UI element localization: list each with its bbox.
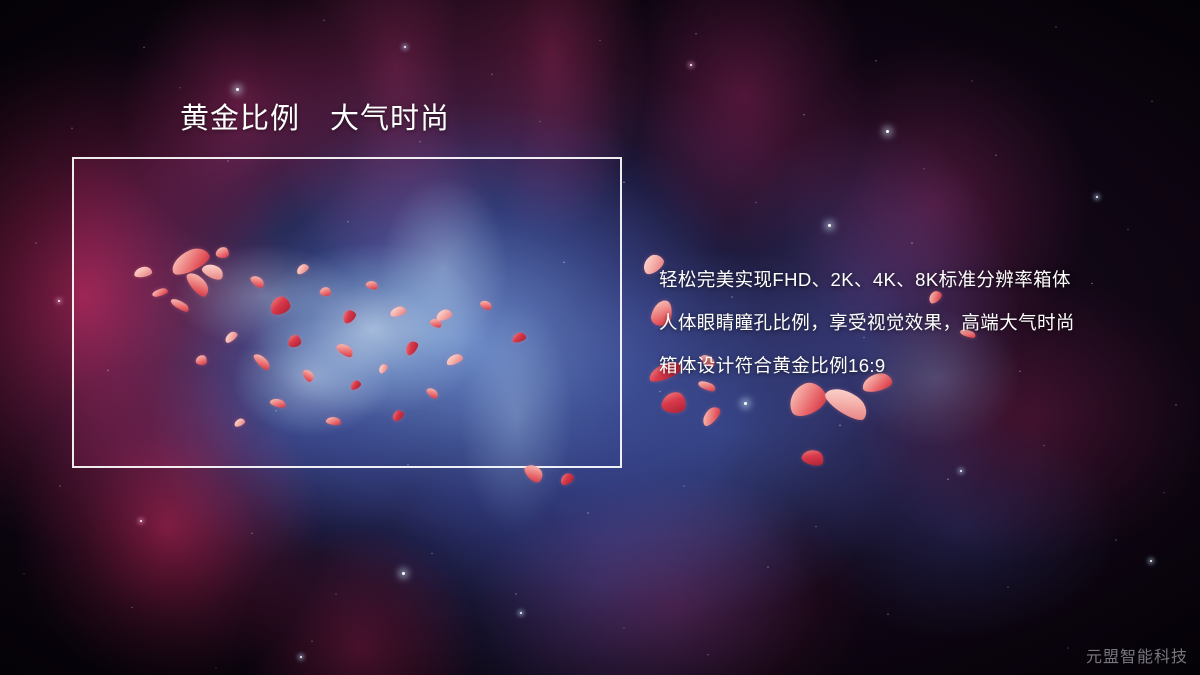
petal <box>365 279 379 291</box>
bright-star <box>236 88 239 91</box>
petal <box>319 286 332 298</box>
petal <box>151 287 168 297</box>
petal <box>325 416 341 426</box>
petal <box>403 339 420 357</box>
bright-star <box>402 572 405 575</box>
body-text-block: 轻松完美实现FHD、2K、4K、8K标准分辨率箱体 人体眼睛瞳孔比例，享受视觉效… <box>659 258 1179 387</box>
bright-star <box>300 656 302 658</box>
bright-star <box>886 130 889 133</box>
bright-star <box>520 612 522 614</box>
petal <box>349 379 362 391</box>
slide-canvas: 黄金比例 大气时尚 轻松完美实现FHD、2K、4K、8K标准分辨率箱体 人体眼睛… <box>0 0 1200 675</box>
petal <box>800 447 826 468</box>
petal <box>269 397 287 410</box>
framed-photo-panel[interactable] <box>72 157 622 468</box>
petal <box>169 296 190 314</box>
petal <box>249 273 266 290</box>
petal <box>391 408 406 422</box>
petal <box>377 363 389 375</box>
petal <box>295 262 310 275</box>
page-title: 黄金比例 大气时尚 <box>180 102 450 137</box>
petal <box>268 294 292 316</box>
petal <box>335 341 355 360</box>
petal <box>445 352 464 366</box>
petal <box>479 298 493 311</box>
bright-star <box>404 46 406 48</box>
photo-image <box>74 159 620 466</box>
petal <box>340 308 358 325</box>
petal <box>195 354 208 366</box>
petal <box>389 305 407 318</box>
petal <box>233 417 246 428</box>
bright-star <box>960 470 962 472</box>
petal <box>287 334 302 348</box>
petal <box>215 246 229 259</box>
petal <box>301 368 315 384</box>
bright-star <box>828 224 831 227</box>
bright-star <box>744 402 747 405</box>
bright-star <box>690 64 692 66</box>
petal <box>699 404 723 428</box>
bright-star <box>140 520 142 522</box>
petal <box>223 330 239 345</box>
petal <box>511 331 527 344</box>
body-line-2: 人体眼睛瞳孔比例，享受视觉效果，高端大气时尚 <box>659 301 1179 344</box>
petal <box>558 471 575 486</box>
body-line-1: 轻松完美实现FHD、2K、4K、8K标准分辨率箱体 <box>659 258 1179 301</box>
bright-star <box>58 300 60 302</box>
petal <box>133 266 152 278</box>
petal <box>252 351 272 372</box>
petal <box>661 390 688 414</box>
body-line-3: 箱体设计符合黄金比例16:9 <box>659 344 1179 387</box>
petal <box>425 386 440 401</box>
bright-star <box>1096 196 1098 198</box>
watermark-label: 元盟智能科技 <box>1086 643 1188 667</box>
bright-star <box>1150 560 1152 562</box>
